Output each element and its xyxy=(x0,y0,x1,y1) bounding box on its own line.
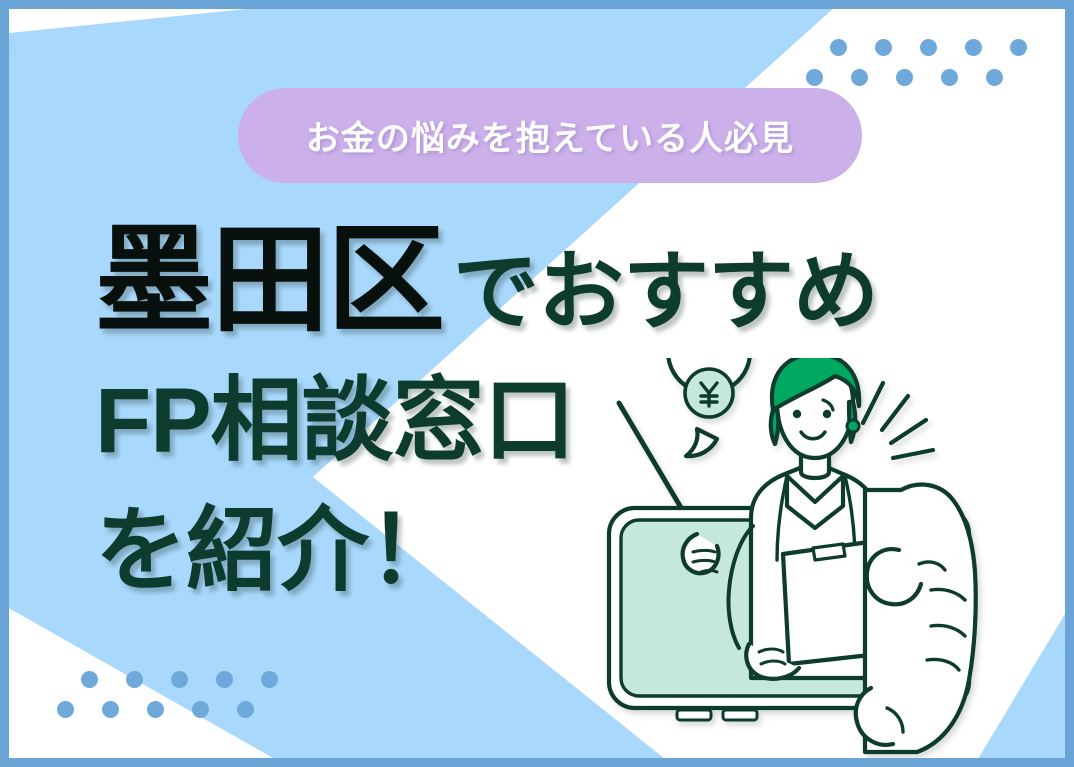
dot xyxy=(171,671,188,688)
dot xyxy=(920,39,937,56)
dot-grid-top-right xyxy=(806,39,1027,86)
dot xyxy=(102,701,119,718)
illustration-fp-advisor xyxy=(601,358,1065,758)
dot-row xyxy=(57,701,254,718)
dot xyxy=(941,69,958,86)
dot xyxy=(986,69,1003,86)
holding-hand xyxy=(856,485,976,752)
dot-row xyxy=(830,39,1027,56)
headline-area-name: 墨田区 xyxy=(95,215,443,347)
dot-row xyxy=(81,671,278,688)
dot xyxy=(57,701,74,718)
dot xyxy=(830,39,847,56)
illustration-svg xyxy=(601,358,1065,758)
headline-line-1-suffix: でおすすめ xyxy=(453,244,878,340)
dot xyxy=(216,671,233,688)
banner-root: お金の悩みを抱えている人必見 墨田区 でおすすめ FP相談窓口 を紹介！ xyxy=(0,0,1074,767)
yen-speech-bubble xyxy=(668,358,750,456)
dot xyxy=(81,671,98,688)
dot xyxy=(1010,39,1027,56)
dot-grid-bottom-left xyxy=(57,671,278,718)
banner-canvas: お金の悩みを抱えている人必見 墨田区 でおすすめ FP相談窓口 を紹介！ xyxy=(9,9,1065,758)
dot xyxy=(126,671,143,688)
dot xyxy=(237,701,254,718)
dot xyxy=(965,39,982,56)
catchphrase-badge: お金の悩みを抱えている人必見 xyxy=(238,88,862,183)
headline-line-1: 墨田区 でおすすめ xyxy=(95,215,885,347)
emphasis-lines xyxy=(863,383,933,458)
dot xyxy=(806,69,823,86)
dot-row xyxy=(806,69,1003,86)
dot xyxy=(851,69,868,86)
catchphrase-text: お金の悩みを抱えている人必見 xyxy=(306,111,794,160)
dot xyxy=(875,39,892,56)
dot xyxy=(896,69,913,86)
dot xyxy=(192,701,209,718)
dot xyxy=(261,671,278,688)
dot xyxy=(147,701,164,718)
